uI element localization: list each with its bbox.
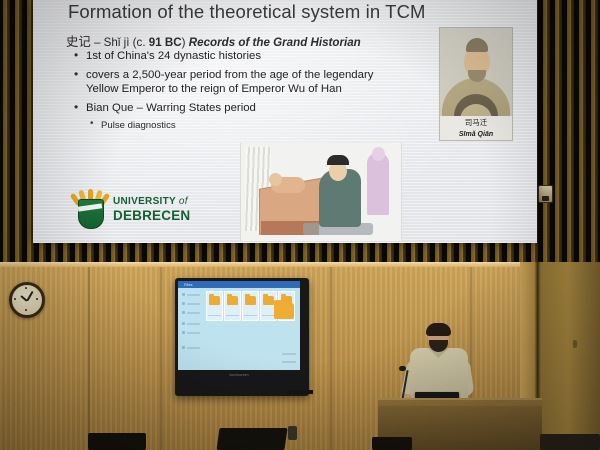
sidebar-item-label bbox=[187, 332, 200, 334]
logo-line-1: UNIVERSITY of bbox=[113, 196, 190, 207]
sidebar-item[interactable] bbox=[182, 302, 201, 305]
foreground-desk-edge bbox=[540, 434, 600, 450]
clock-tick bbox=[36, 298, 38, 300]
foreground-chair bbox=[88, 433, 146, 450]
sidebar-item[interactable] bbox=[182, 311, 201, 314]
portrait-sima-qian: 司马迁 Sīmǎ Qiān bbox=[439, 27, 513, 141]
touchscreen-display[interactable]: Files touchscreen bbox=[175, 278, 309, 396]
illustration-attendant-body bbox=[367, 153, 389, 215]
ceiling-light-strip bbox=[0, 262, 600, 267]
door-handle bbox=[573, 340, 577, 348]
portrait-caption-bar: 司马迁 Sīmǎ Qiān bbox=[440, 116, 512, 140]
clock-tick bbox=[14, 298, 16, 300]
display-bezel-bottom: touchscreen bbox=[178, 370, 300, 378]
status-row bbox=[282, 353, 296, 355]
folder-tile[interactable] bbox=[242, 291, 259, 321]
wall-panel-seam bbox=[88, 262, 90, 450]
sidebar-item-icon bbox=[182, 322, 185, 325]
logo-wordmark: UNIVERSITY of DEBRECEN bbox=[113, 196, 190, 223]
folder-tile[interactable] bbox=[224, 291, 241, 321]
clock-tick bbox=[25, 309, 27, 311]
sidebar-item[interactable] bbox=[182, 346, 201, 349]
subtitle-pinyin: Shǐ jì (c. bbox=[104, 36, 149, 49]
bullet-item: 1st of China's 24 dynastic histories bbox=[73, 50, 403, 64]
file-manager-titlebar: Files bbox=[178, 281, 300, 288]
subtitle-work-title: Records of the Grand Historian bbox=[189, 36, 361, 49]
sidebar-item-icon bbox=[182, 302, 185, 305]
sidebar-item-label bbox=[187, 294, 200, 296]
file-manager-sidebar[interactable] bbox=[178, 288, 204, 378]
sub-bullet-item: Pulse diagnostics bbox=[86, 119, 403, 133]
coat-of-arms-icon bbox=[73, 193, 107, 229]
foreground-chair bbox=[372, 437, 412, 450]
portrait-name-chinese: 司马迁 bbox=[440, 117, 512, 128]
sidebar-item[interactable] bbox=[182, 293, 201, 296]
sidebar-item-label bbox=[187, 303, 200, 305]
sidebar-item-icon bbox=[182, 293, 185, 296]
wall-panel-seam bbox=[160, 262, 162, 450]
logo-line-2: DEBRECEN bbox=[113, 208, 190, 223]
illustration-attendant-head bbox=[372, 147, 385, 161]
folder-label bbox=[208, 315, 221, 317]
university-logo: UNIVERSITY of DEBRECEN bbox=[73, 189, 203, 231]
sidebar-item-icon bbox=[182, 311, 185, 314]
display-screen[interactable]: Files touchscreen bbox=[178, 281, 300, 378]
projected-slide: Formation of the theoretical system in T… bbox=[33, 0, 537, 243]
slide-sub-bullet-list: Pulse diagnostics bbox=[86, 119, 403, 133]
bullet-item: covers a 2,500-year period from the age … bbox=[73, 69, 403, 96]
wall-panel-seam bbox=[330, 262, 332, 450]
display-brand-label: touchscreen bbox=[229, 373, 248, 377]
clock-minute-hand bbox=[26, 291, 33, 301]
status-row bbox=[282, 361, 296, 363]
folder-icon bbox=[209, 296, 220, 305]
sidebar-item-icon bbox=[182, 346, 185, 349]
foreground-post bbox=[288, 426, 297, 440]
foreground-chair bbox=[216, 428, 287, 450]
folder-icon bbox=[263, 296, 274, 305]
bullet-text: covers a 2,500-year period from the age … bbox=[86, 69, 373, 95]
sidebar-item-label bbox=[187, 323, 200, 325]
subtitle-chinese: 史记 bbox=[66, 35, 91, 49]
subtitle-date: 91 BC bbox=[149, 36, 182, 49]
logo-of-word: of bbox=[179, 196, 188, 207]
lecture-hall-scene: Formation of the theoretical system in T… bbox=[0, 0, 600, 450]
bullet-item: Bian Que – Warring States period Pulse d… bbox=[73, 102, 403, 133]
logo-university-word: UNIVERSITY bbox=[113, 196, 179, 207]
bullet-text: 1st of China's 24 dynastic histories bbox=[86, 50, 261, 62]
sidebar-item[interactable] bbox=[182, 322, 201, 325]
slide-subtitle: 史记 – Shǐ jì (c. 91 BC) Records of the Gr… bbox=[66, 32, 426, 50]
sidebar-item-icon bbox=[182, 331, 185, 334]
sidebar-item-label bbox=[187, 347, 200, 349]
wall-clock bbox=[9, 282, 45, 318]
slide-title: Formation of the theoretical system in T… bbox=[68, 1, 498, 23]
display-stand bbox=[287, 390, 313, 394]
subtitle-dash: – bbox=[91, 36, 104, 49]
folder-icon bbox=[227, 296, 238, 305]
dragged-folder-icon[interactable] bbox=[274, 303, 294, 319]
presenter-hair bbox=[426, 323, 451, 336]
illustration-patient-head bbox=[269, 173, 282, 186]
folder-label bbox=[244, 315, 257, 317]
wall-speaker-icon bbox=[538, 185, 553, 203]
folder-label bbox=[226, 315, 239, 317]
folder-icon bbox=[245, 296, 256, 305]
clock-tick bbox=[25, 287, 27, 289]
folder-tile[interactable] bbox=[206, 291, 223, 321]
microphone-icon bbox=[399, 366, 406, 371]
sidebar-item[interactable] bbox=[182, 331, 201, 334]
portrait-name-pinyin: Sīmǎ Qiān bbox=[440, 131, 512, 138]
pulse-diagnosis-illustration bbox=[240, 143, 402, 241]
subtitle-close: ) bbox=[182, 36, 189, 49]
file-manager-title: Files bbox=[184, 282, 192, 287]
sidebar-item-label bbox=[187, 312, 200, 314]
slide-bullet-list: 1st of China's 24 dynastic histories cov… bbox=[73, 50, 403, 138]
illustration-physician-hat bbox=[327, 155, 349, 165]
bullet-text: Bian Que – Warring States period bbox=[86, 102, 256, 114]
presenter bbox=[408, 326, 470, 402]
